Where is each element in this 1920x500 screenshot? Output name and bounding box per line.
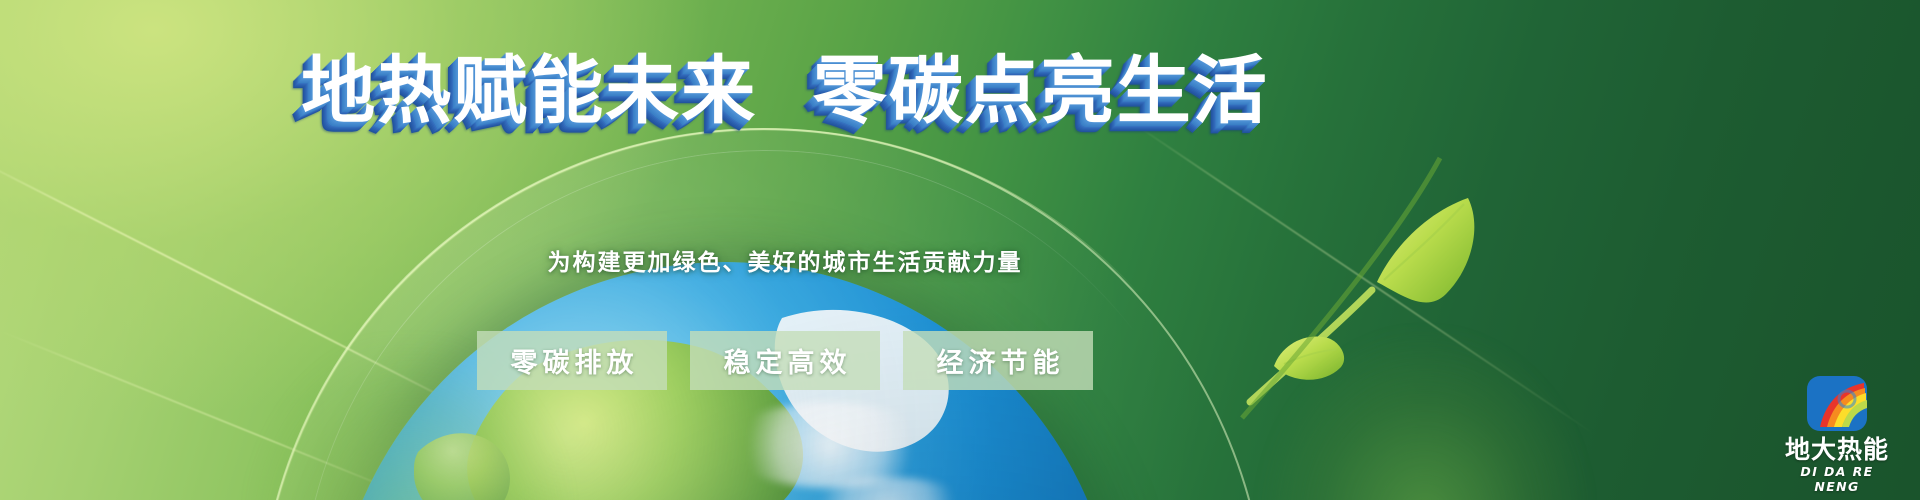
feature-tag-list: 零碳排放 稳定高效 经济节能 [0, 331, 1570, 390]
company-logo[interactable]: 地大热能 DI DA RE NENG [1776, 375, 1898, 494]
feature-tag-stable-efficient[interactable]: 稳定高效 [690, 331, 880, 390]
rainbow-swoosh-icon [1802, 375, 1872, 433]
feature-tag-economical[interactable]: 经济节能 [903, 331, 1093, 390]
banner-content: 地热赋能未来 零碳点亮生活 为构建更加绿色、美好的城市生活贡献力量 零碳排放 稳… [0, 0, 1920, 500]
logo-name-cn: 地大热能 [1776, 437, 1898, 463]
banner-title: 地热赋能未来 零碳点亮生活 [0, 54, 1570, 128]
hero-banner: 地热赋能未来 零碳点亮生活 为构建更加绿色、美好的城市生活贡献力量 零碳排放 稳… [0, 0, 1920, 500]
feature-tag-zero-carbon[interactable]: 零碳排放 [477, 331, 667, 390]
banner-subtitle: 为构建更加绿色、美好的城市生活贡献力量 [0, 243, 1570, 277]
logo-name-en: DI DA RE NENG [1776, 464, 1898, 494]
